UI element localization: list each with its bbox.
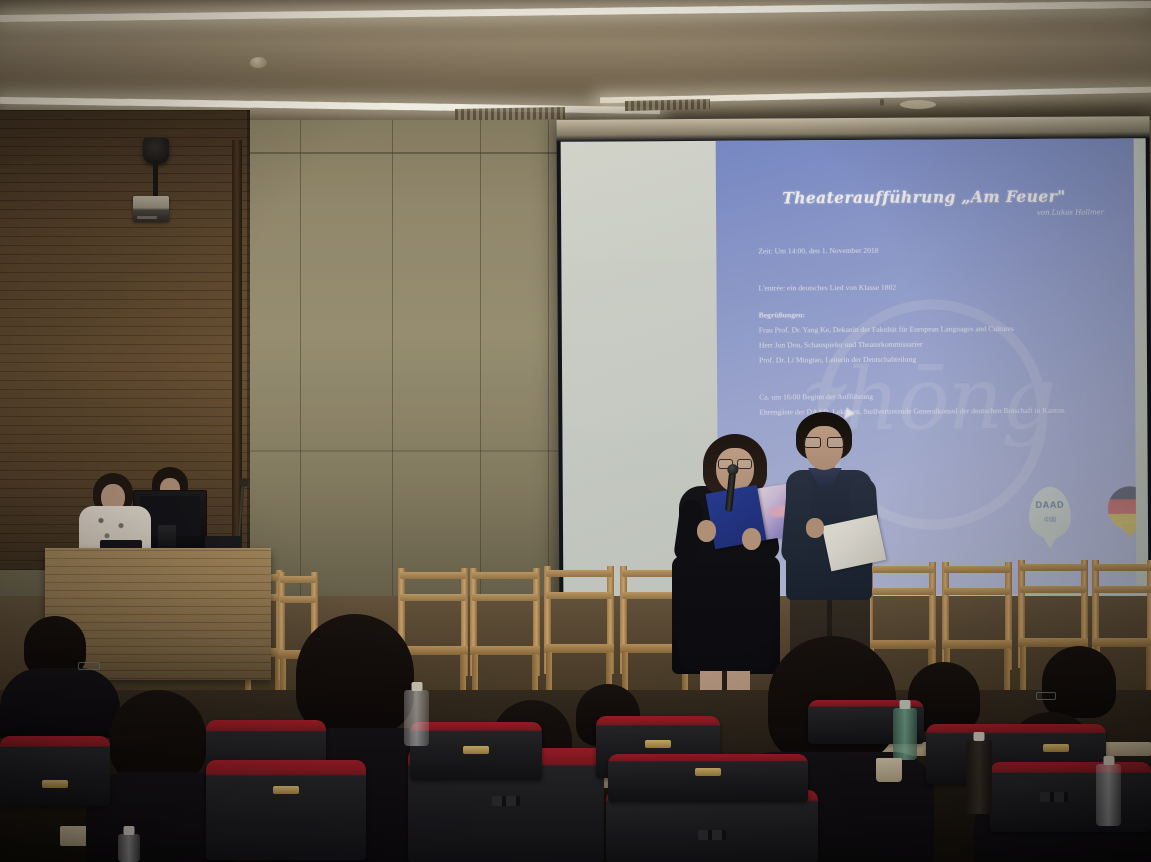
slide-line-greetings: Begrüßungen:: [759, 307, 1109, 320]
slide-line-speaker-3: Prof. Dr. Li Mingtao, Leiterin der Deuts…: [759, 352, 1109, 365]
desk-equipment: [205, 536, 241, 548]
man-presenter-hand: [806, 518, 824, 538]
audience-head: [110, 690, 206, 782]
slide-line-speaker-2: Herr Jun Dou, Schauspieler und Theaterko…: [759, 337, 1109, 350]
auditorium-photo: zhōng Theateraufführung „Am Feuer" von L…: [0, 0, 1151, 862]
wall-panel-seam: [300, 120, 301, 600]
auditorium-seat[interactable]: [206, 760, 366, 860]
ceiling: [0, 0, 1151, 128]
stage-chair: [544, 566, 614, 702]
ceiling-fixture: [880, 99, 884, 106]
paper-cup: [876, 758, 902, 782]
wall-device: [133, 196, 169, 222]
audience-head: [296, 614, 414, 734]
desk-equipment: [158, 525, 176, 549]
audience-head: [1042, 646, 1116, 718]
auditorium-seat[interactable]: [608, 754, 808, 802]
wall-panel-seam: [480, 120, 481, 600]
man-presenter-face: [805, 426, 843, 470]
speaker-mount: [153, 160, 158, 198]
audience-glasses-icon: [78, 662, 100, 670]
auditorium-seat[interactable]: [990, 762, 1151, 832]
ceiling-vent: [625, 99, 710, 111]
slide-title: Theateraufführung „Am Feuer": [744, 186, 1104, 207]
slide-line-speaker-1: Frau Prof. Dr. Yang Ke, Dekanin der Faku…: [759, 322, 1109, 335]
wall-panel-seam: [548, 120, 549, 600]
audience-head: [24, 616, 86, 676]
water-bottle: [966, 740, 992, 814]
wall-panel-seam: [392, 120, 393, 600]
daad-logo-text: DAAD: [1029, 500, 1071, 510]
slide-subtitle: von Lukas Hollmer: [744, 208, 1120, 218]
water-bottle: [1096, 764, 1121, 826]
slide-line-entree: L'entrée: ein deutsches Lied von Klasse …: [759, 280, 1109, 293]
microphone-head-icon: [240, 478, 249, 487]
auditorium-seat[interactable]: [410, 722, 542, 780]
woman-presenter-hand: [742, 528, 761, 550]
slide-line-time: Zeit: Um 14:00, den 1. November 2018: [758, 243, 1108, 256]
audience-glasses-icon: [1036, 692, 1056, 700]
audience-shoulders: [0, 668, 120, 738]
man-presenter-glasses-icon: [804, 437, 844, 446]
ceiling-light-strip: [0, 1, 1151, 22]
smoke-detector-icon: [250, 57, 267, 68]
slide-line-start: Ca. um 16:00 Beginn der Aufführung: [759, 389, 1109, 402]
water-bottle: [404, 690, 429, 746]
slide-body: Zeit: Um 14:00, den 1. November 2018 L'e…: [758, 243, 1109, 421]
daad-logo-subtext: 中国: [1029, 515, 1071, 524]
water-bottle: [118, 834, 140, 862]
water-bottle: [893, 708, 917, 760]
woman-presenter-hand: [697, 520, 716, 542]
stage-chair: [470, 568, 540, 704]
german-flag-logo-icon: [1108, 486, 1137, 530]
daad-logo-icon: DAAD 中国: [1029, 487, 1071, 539]
auditorium-seat[interactable]: [0, 736, 110, 806]
ceiling-fixture: [900, 100, 936, 109]
ceiling-vent: [455, 107, 565, 121]
